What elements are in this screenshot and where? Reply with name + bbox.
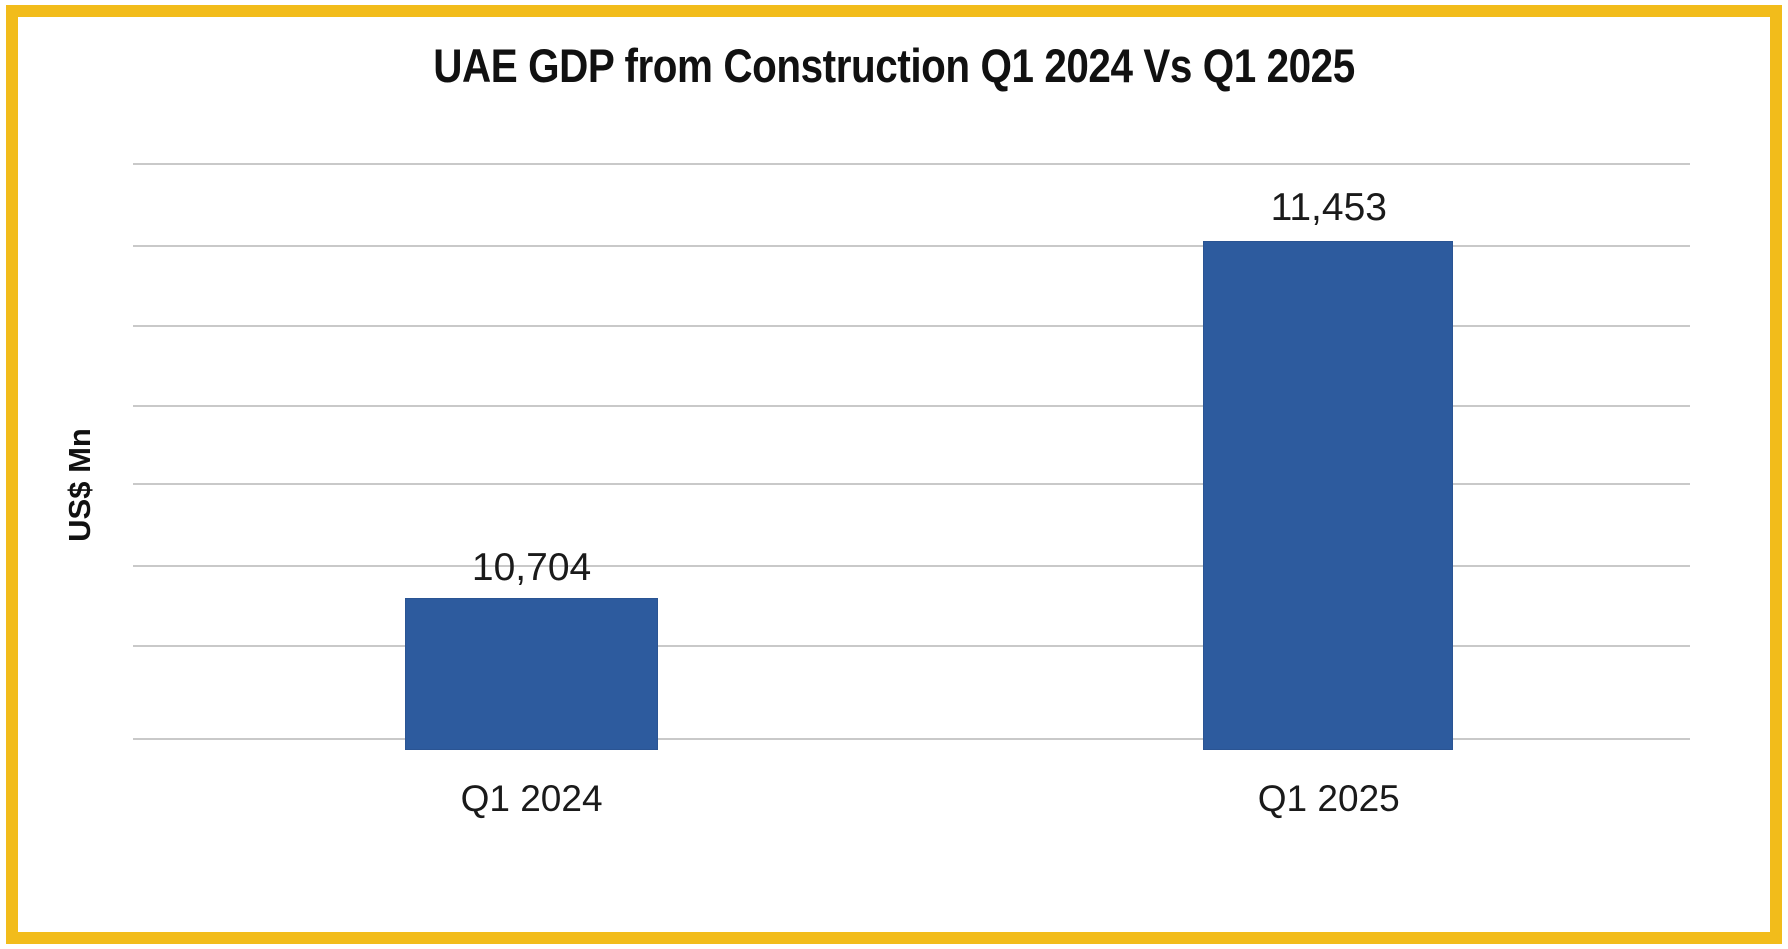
gridline — [133, 163, 1690, 165]
chart-title: UAE GDP from Construction Q1 2024 Vs Q1 … — [125, 38, 1663, 93]
category-label-q1-2024: Q1 2024 — [332, 778, 732, 820]
category-label-q1-2025: Q1 2025 — [1129, 778, 1529, 820]
axis-baseline — [133, 738, 1690, 740]
y-axis-title: US$ Mn — [52, 370, 108, 600]
plot-area — [133, 150, 1690, 750]
bar-q1-2025[interactable] — [1203, 241, 1454, 750]
chart-canvas: UAE GDP from Construction Q1 2024 Vs Q1 … — [0, 0, 1788, 949]
gridline — [133, 405, 1690, 407]
gridline — [133, 645, 1690, 647]
gridline — [133, 565, 1690, 567]
chart-figure: UAE GDP from Construction Q1 2024 Vs Q1 … — [0, 0, 1788, 949]
gridline — [133, 483, 1690, 485]
gridline — [133, 325, 1690, 327]
data-label-q1-2024: 10,704 — [382, 546, 682, 590]
y-axis-title-text: US$ Mn — [62, 428, 98, 542]
gridline — [133, 245, 1690, 247]
data-label-q1-2025: 11,453 — [1179, 186, 1479, 230]
bar-q1-2024[interactable] — [405, 598, 657, 750]
